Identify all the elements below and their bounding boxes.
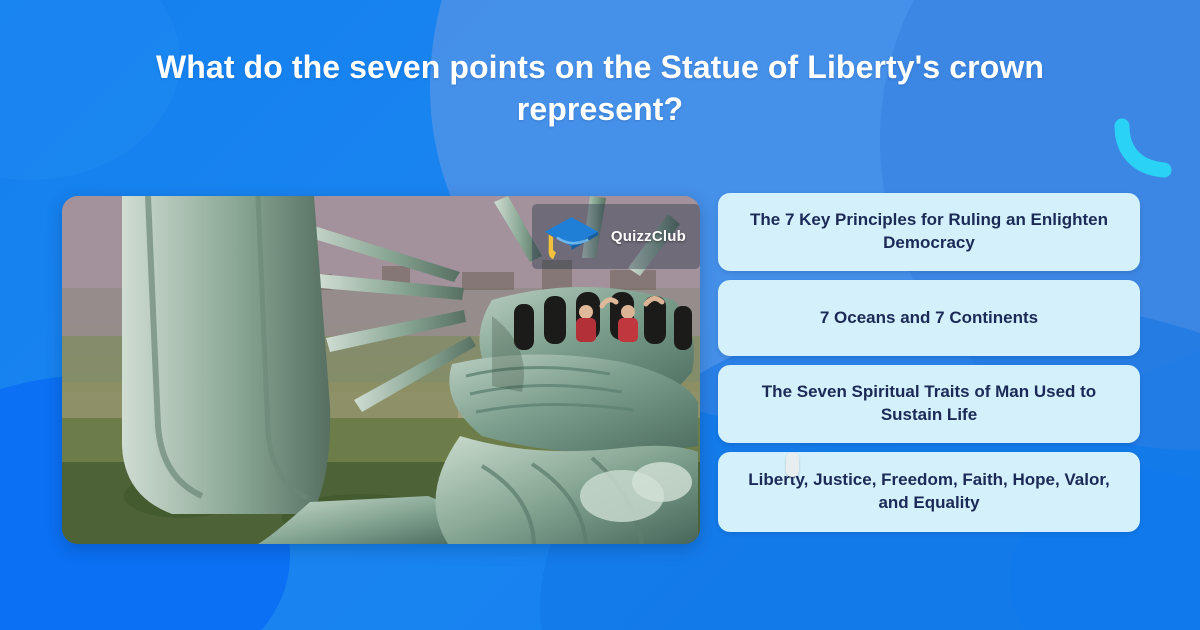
watermark-label: QuizzClub	[611, 228, 686, 245]
accent-arc-icon	[1112, 118, 1176, 182]
watermark-badge: QuizzClub	[532, 204, 700, 269]
answer-option-4[interactable]: Liberty, Justice, Freedom, Faith, Hope, …	[718, 452, 1140, 532]
answer-option-2[interactable]: 7 Oceans and 7 Continents	[718, 280, 1140, 356]
quiz-card: What do the seven points on the Statue o…	[0, 0, 1200, 630]
question-image: QuizzClub	[62, 196, 700, 544]
option-divider-marker	[786, 452, 799, 477]
answer-option-1[interactable]: The 7 Key Principles for Ruling an Enlig…	[718, 193, 1140, 271]
answer-options-list: The 7 Key Principles for Ruling an Enlig…	[718, 193, 1140, 532]
graduation-cap-icon	[540, 210, 603, 263]
page-title: What do the seven points on the Statue o…	[100, 46, 1100, 130]
answer-option-3[interactable]: The Seven Spiritual Traits of Man Used t…	[718, 365, 1140, 443]
